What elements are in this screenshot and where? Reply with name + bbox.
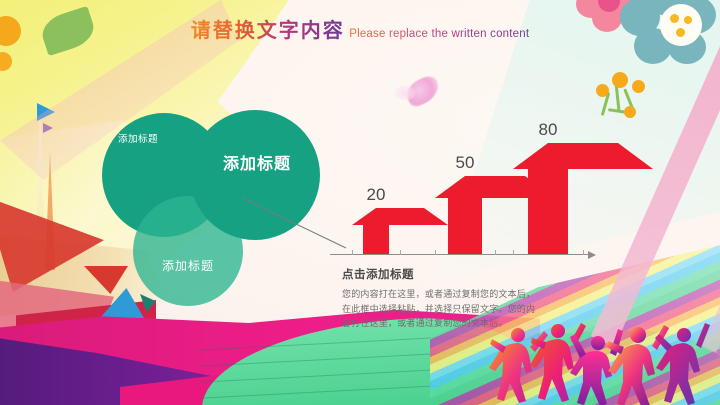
chart-tick-1 — [352, 250, 353, 255]
circle-label-3: 添加标题 — [162, 257, 214, 274]
chart-tick-5 — [513, 250, 514, 255]
chart-axis-arrowhead — [588, 251, 596, 259]
circle-label-1: 添加标题 — [118, 131, 158, 145]
jumping-people-silhouette — [486, 313, 718, 405]
chart-value-2: 50 — [456, 153, 475, 173]
title-block: 请替换文字内容 Please replace the written conte… — [0, 14, 720, 43]
chart-tick-3 — [435, 250, 436, 255]
chart-bar-1[interactable]: 20 — [352, 185, 400, 254]
chart-value-3: 80 — [539, 120, 558, 140]
arrow-bar-chart: 20 50 80 — [330, 110, 595, 255]
description-heading: 点击添加标题 — [342, 266, 542, 282]
chart-tick-4 — [495, 250, 496, 255]
page-title: 请替换文字内容 — [191, 14, 345, 43]
chart-tick-2 — [400, 250, 401, 255]
circle-label-2: 添加标题 — [223, 150, 291, 174]
chart-value-1: 20 — [367, 185, 386, 205]
petal-glow — [394, 86, 416, 100]
page-subtitle: Please replace the written content — [349, 28, 529, 40]
slide-canvas: 请替换文字内容 Please replace the written conte… — [0, 0, 720, 405]
chart-bar-2[interactable]: 50 — [435, 153, 495, 254]
chart-tick-6 — [583, 250, 584, 255]
berry-cluster-icon — [594, 70, 664, 118]
chart-axis — [330, 254, 588, 255]
chart-bar-3[interactable]: 80 — [513, 120, 583, 254]
